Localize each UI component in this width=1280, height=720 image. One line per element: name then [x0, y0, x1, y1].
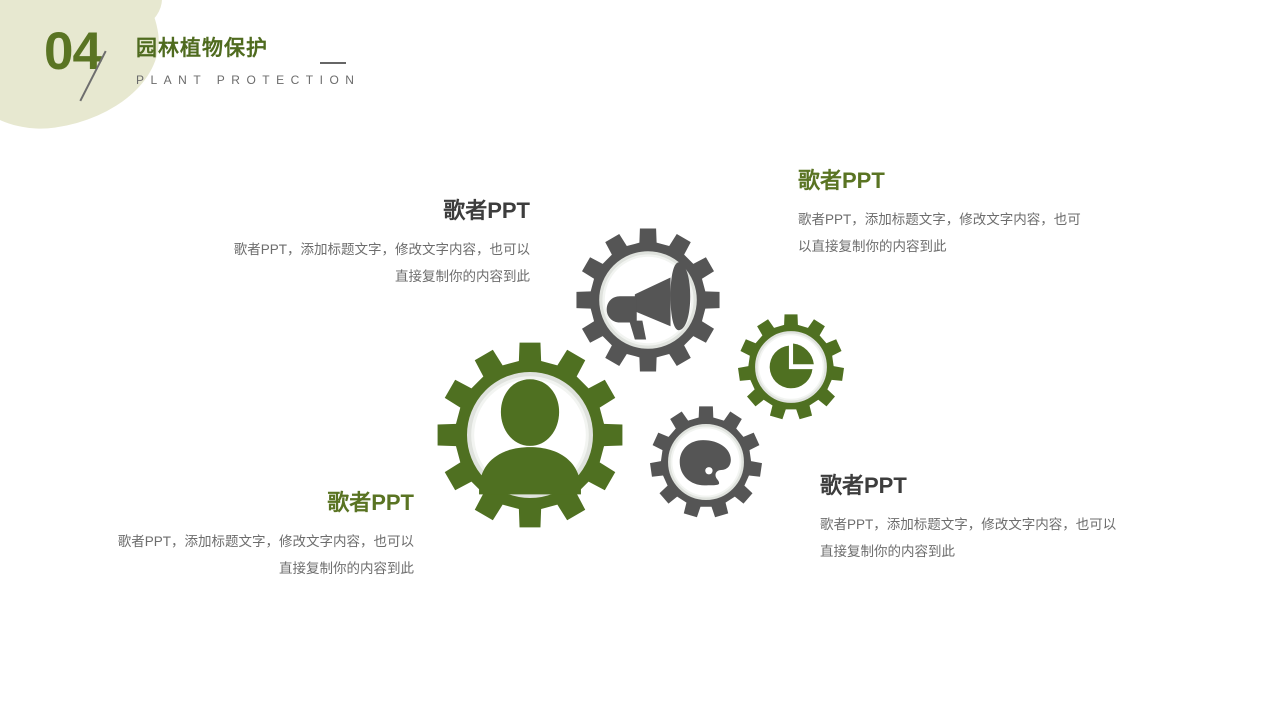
gear-palette-face	[672, 428, 739, 495]
feature-block-bottom-left: 歌者PPT 歌者PPT，添加标题文字，修改文字内容，也可以直接复制你的内容到此	[108, 490, 414, 582]
gear-palette-body	[650, 406, 762, 517]
gear-user	[438, 343, 623, 528]
gear-megaphone-body	[576, 228, 719, 371]
page-subtitle: PLANT PROTECTION	[136, 73, 360, 87]
gear-user-bezel	[469, 374, 591, 496]
feature-block-top-left: 歌者PPT 歌者PPT，添加标题文字，修改文字内容，也可以直接复制你的内容到此	[224, 198, 530, 290]
gear-megaphone-bezel	[601, 253, 695, 347]
feature-title: 歌者PPT	[798, 168, 1088, 194]
megaphone-icon	[607, 262, 691, 339]
feature-body: 歌者PPT，添加标题文字，修改文字内容，也可以直接复制你的内容到此	[820, 511, 1120, 565]
gear-megaphone-face	[605, 257, 691, 343]
gear-user-body	[438, 343, 623, 528]
gear-palette	[650, 406, 762, 517]
feature-title: 歌者PPT	[108, 490, 414, 516]
gear-piechart	[738, 314, 844, 419]
feature-title: 歌者PPT	[820, 473, 1120, 499]
gear-megaphone	[576, 228, 719, 371]
section-number: 04	[44, 25, 101, 78]
feature-block-top-right: 歌者PPT 歌者PPT，添加标题文字，修改文字内容，也可以直接复制你的内容到此	[798, 168, 1088, 260]
feature-title: 歌者PPT	[224, 198, 530, 224]
gear-palette-bezel	[669, 425, 742, 498]
palette-icon	[680, 440, 731, 485]
gear-user-face	[474, 379, 586, 491]
pie-chart-icon	[770, 344, 814, 389]
header-dash-decoration	[320, 62, 346, 64]
feature-body: 歌者PPT，添加标题文字，修改文字内容，也可以直接复制你的内容到此	[224, 236, 530, 290]
feature-block-bottom-right: 歌者PPT 歌者PPT，添加标题文字，修改文字内容，也可以直接复制你的内容到此	[820, 473, 1120, 565]
feature-body: 歌者PPT，添加标题文字，修改文字内容，也可以直接复制你的内容到此	[798, 206, 1088, 260]
feature-body: 歌者PPT，添加标题文字，修改文字内容，也可以直接复制你的内容到此	[108, 528, 414, 582]
gear-piechart-bezel	[756, 332, 825, 401]
gear-piechart-body	[738, 314, 844, 419]
gear-diagram	[0, 0, 1280, 720]
user-icon	[479, 379, 581, 494]
gear-piechart-face	[759, 335, 823, 399]
page-title: 园林植物保护	[136, 32, 268, 62]
